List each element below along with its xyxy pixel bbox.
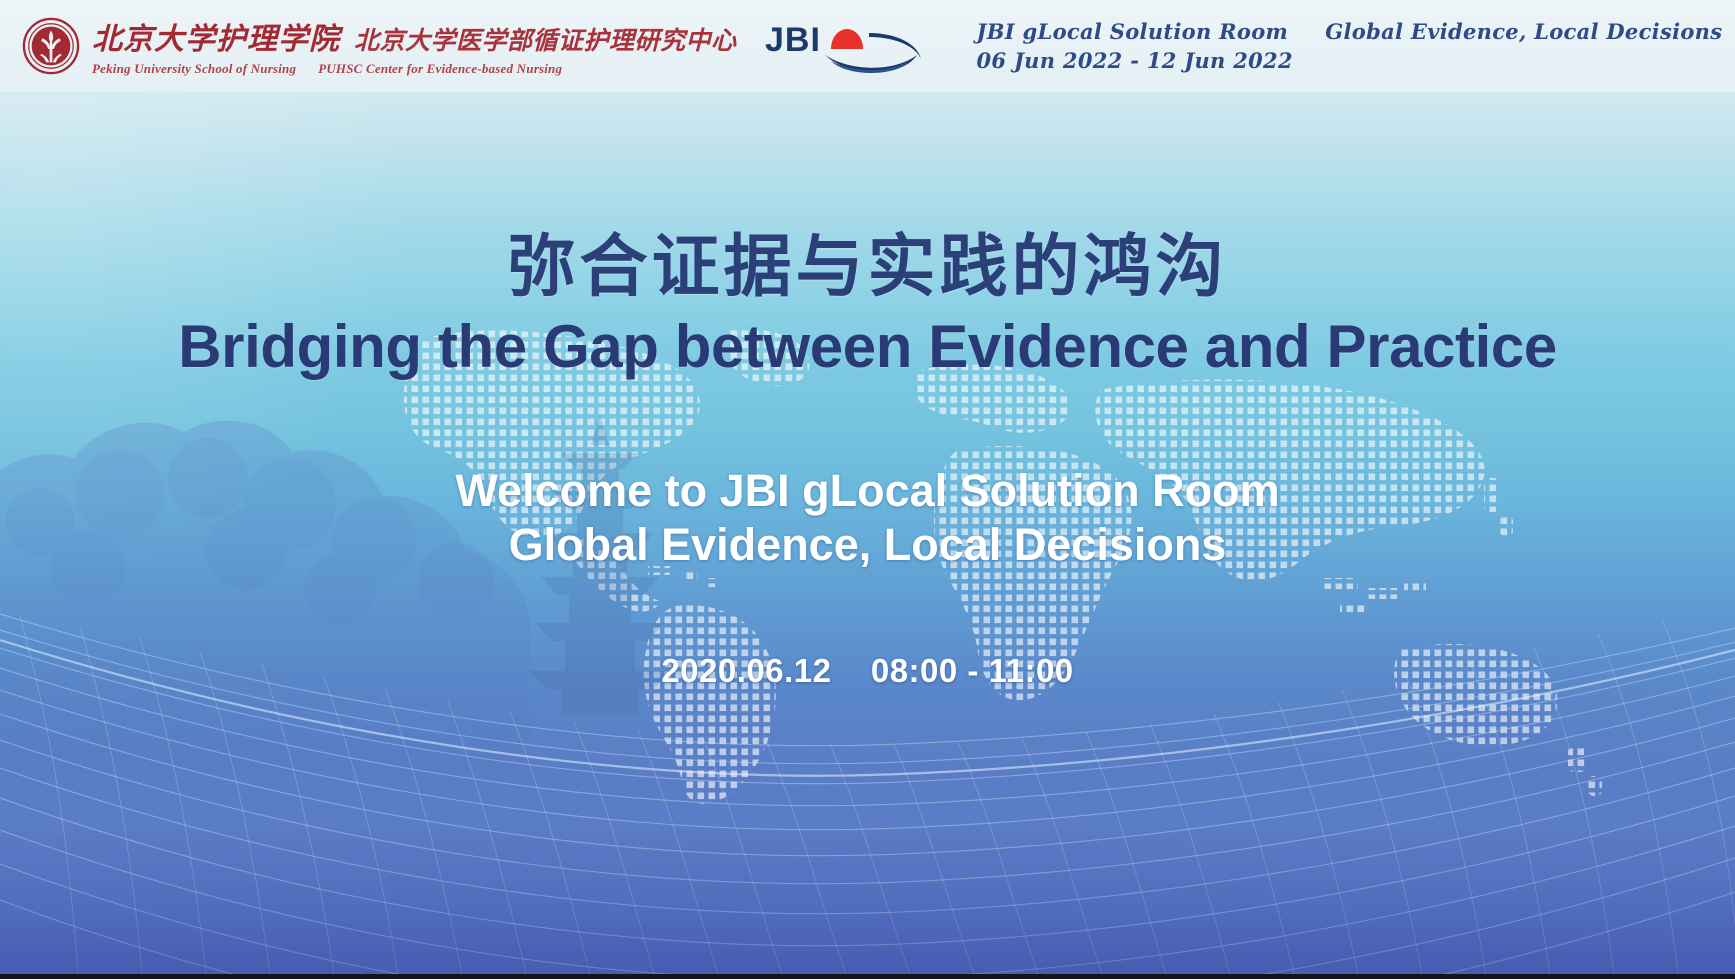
welcome-line-1: Welcome to JBI gLocal Solution Room [455, 465, 1279, 516]
event-header-text: JBI gLocal Solution Room Global Evidence… [977, 19, 1723, 73]
welcome-line-2: Global Evidence, Local Decisions [0, 518, 1735, 572]
slide-header-bar: 北京大学护理学院 北京大学医学部循证护理研究中心 Peking Universi… [0, 0, 1735, 92]
pku-school-name-en: Peking University School of Nursing [92, 61, 296, 77]
pku-logo-text: 北京大学护理学院 北京大学医学部循证护理研究中心 Peking Universi… [92, 14, 737, 77]
pku-center-name-cn: 北京大学医学部循证护理研究中心 [354, 21, 737, 57]
slide-title-chinese: 弥合证据与实践的鸿沟 [0, 232, 1735, 303]
peking-university-seal-icon [22, 17, 80, 75]
event-title: JBI gLocal Solution Room [977, 19, 1289, 44]
pku-school-name-cn: 北京大学护理学院 [92, 14, 340, 58]
svg-text:JBI: JBI [765, 21, 821, 59]
slide-title-english: Bridging the Gap between Evidence and Pr… [0, 315, 1735, 378]
pku-chinese-row: 北京大学护理学院 北京大学医学部循证护理研究中心 [92, 14, 737, 58]
session-time-range: 08:00 - 11:00 [871, 652, 1074, 689]
session-datetime: 2020.06.12 08:00 - 11:00 [0, 652, 1735, 690]
jbi-logo: JBI [765, 15, 947, 77]
presentation-slide: 北京大学护理学院 北京大学医学部循证护理研究中心 Peking Universi… [0, 0, 1735, 979]
pku-english-row: Peking University School of Nursing PUHS… [92, 61, 737, 77]
slide-content: 弥合证据与实践的鸿沟 Bridging the Gap between Evid… [0, 92, 1735, 974]
event-title-line: JBI gLocal Solution Room Global Evidence… [977, 19, 1723, 44]
event-dates: 06 Jun 2022 - 12 Jun 2022 [977, 48, 1723, 73]
pku-center-name-en: PUHSC Center for Evidence-based Nursing [318, 61, 562, 77]
jbi-logo-icon: JBI [765, 15, 947, 77]
welcome-block: Welcome to JBI gLocal Solution Room Glob… [0, 464, 1735, 572]
session-date: 2020.06.12 [661, 652, 831, 689]
event-tagline: Global Evidence, Local Decisions [1325, 19, 1722, 44]
